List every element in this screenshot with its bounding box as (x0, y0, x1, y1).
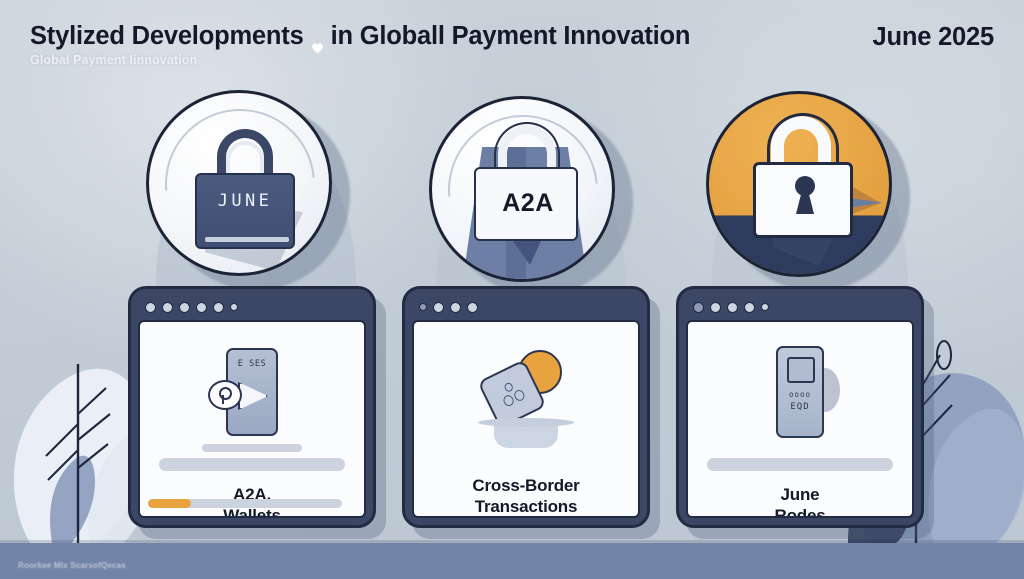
floor-band (0, 543, 1024, 579)
padlock-icon: JUNE (189, 129, 301, 253)
bowl-shape (478, 418, 574, 448)
window-dot[interactable] (450, 302, 461, 313)
card-titlebar (412, 296, 640, 318)
terminal-screen (787, 357, 815, 383)
window-dot[interactable] (179, 302, 190, 313)
window-dot[interactable] (419, 303, 427, 311)
card-cross-border-transactions[interactable]: Cross-Border Transactions (402, 286, 650, 528)
page-title-part-1: Stylized Developments (30, 22, 304, 51)
badge-row: JUNE A2A (0, 86, 1024, 286)
padlock-icon: A2A (474, 125, 582, 255)
padlock-body-strip (205, 237, 289, 242)
phone-caption: E SES (228, 359, 276, 369)
key-icon (218, 387, 229, 404)
footer-caption: Roorkee Mix ScarsofQecas (18, 561, 126, 570)
heart-icon (311, 32, 324, 44)
card-screen: Cross-Border Transactions (412, 320, 640, 518)
illustration-canvas: Stylized Developments in Globall Payment… (0, 0, 1024, 579)
window-dot[interactable] (467, 302, 478, 313)
placeholder-bar (707, 458, 893, 471)
padlock-body (195, 173, 295, 249)
page-subtitle: Global Payment Iinnovation (30, 53, 690, 67)
progress-bar-fill (148, 499, 191, 508)
page-title: Stylized Developments in Globall Payment… (30, 22, 690, 51)
badge-disc: JUNE (146, 90, 332, 276)
card-label-line-2: Transactions (472, 497, 579, 518)
placeholder-bar (159, 458, 345, 471)
window-dot[interactable] (433, 302, 444, 313)
icon-shelf (202, 444, 302, 452)
padlock-shackle-inner (226, 141, 264, 175)
card-row: E SES A2A, Wallets (0, 286, 1024, 536)
window-dot[interactable] (145, 302, 156, 313)
badge-june-lock[interactable]: JUNE (146, 90, 342, 286)
card-label-line-1: Cross-Border (472, 476, 579, 497)
bowl-lip (478, 418, 574, 427)
keyhole-icon (792, 176, 818, 214)
badge-secure-lock[interactable] (706, 91, 902, 287)
card-label: June Rodes (767, 485, 834, 518)
transfer-glyph-icon (497, 378, 527, 409)
window-dot[interactable] (744, 302, 755, 313)
window-dot[interactable] (727, 302, 738, 313)
card-label-line-1: June (775, 485, 826, 506)
card-titlebar (138, 296, 366, 318)
header: Stylized Developments in Globall Payment… (0, 0, 1024, 86)
terminal-caption-2: EQD (778, 402, 822, 412)
badge-disc (706, 91, 892, 277)
terminal-shape: oooo EQD (776, 346, 824, 438)
window-dot[interactable] (196, 302, 207, 313)
bowl-body (494, 424, 558, 448)
page-title-part-2: in Globall Payment Innovation (331, 22, 691, 51)
badge-a2a-lock[interactable]: A2A (429, 96, 625, 292)
card-june-rodes[interactable]: oooo EQD June Rodes (676, 286, 924, 528)
window-dot[interactable] (213, 302, 224, 313)
card-a2a-wallets[interactable]: E SES A2A, Wallets (128, 286, 376, 528)
window-dot[interactable] (230, 303, 238, 311)
date-label: June 2025 (872, 22, 994, 52)
progress-bar[interactable] (148, 499, 342, 508)
terminal-caption-1: oooo (778, 390, 822, 399)
window-dot[interactable] (761, 303, 769, 311)
padlock-label: A2A (474, 189, 582, 218)
card-label: Cross-Border Transactions (464, 476, 587, 517)
card-screen: E SES A2A, Wallets (138, 320, 366, 518)
card-label-line-2: Rodes (775, 506, 826, 518)
badge-disc: A2A (429, 96, 615, 282)
mobile-wallet-icon: E SES (200, 344, 304, 448)
coin-transfer-icon (474, 344, 578, 448)
window-dot[interactable] (162, 302, 173, 313)
card-screen: oooo EQD June Rodes (686, 320, 914, 518)
padlock-keyhole-icon (753, 116, 857, 244)
window-dot[interactable] (693, 302, 704, 313)
payment-terminal-icon: oooo EQD (748, 344, 852, 448)
card-titlebar (686, 296, 914, 318)
title-group: Stylized Developments in Globall Payment… (30, 22, 690, 67)
window-dot[interactable] (710, 302, 721, 313)
padlock-label: JUNE (189, 191, 301, 211)
